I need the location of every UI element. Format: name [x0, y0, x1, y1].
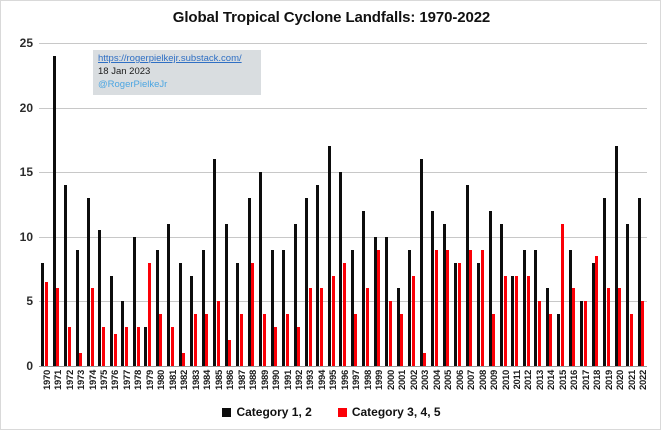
bar-group	[294, 43, 301, 366]
x-tick-label: 2003	[420, 370, 431, 390]
x-tick-label: 2004	[432, 370, 443, 390]
bar-category-3-4-5	[240, 314, 243, 366]
bar-group	[443, 43, 450, 366]
x-tick-label: 1971	[53, 370, 64, 390]
y-tick-label: 0	[26, 359, 33, 373]
bar-group	[638, 43, 645, 366]
bar-category-3-4-5	[228, 340, 231, 366]
bar-category-1-2	[110, 276, 113, 366]
legend-swatch-icon	[338, 408, 347, 417]
bar-group	[339, 43, 346, 366]
bar-category-3-4-5	[435, 250, 438, 366]
bar-category-1-2	[53, 56, 56, 366]
bar-group	[374, 43, 381, 366]
bar-category-1-2	[190, 276, 193, 366]
x-tick-label: 1980	[156, 370, 167, 390]
bar-group	[362, 43, 369, 366]
x-tick-label: 1991	[283, 370, 294, 390]
x-tick-label: 1997	[351, 370, 362, 390]
bar-category-3-4-5	[79, 353, 82, 366]
bar-category-3-4-5	[45, 282, 48, 366]
bar-group	[511, 43, 518, 366]
legend-label: Category 3, 4, 5	[352, 405, 441, 419]
bar-category-3-4-5	[217, 301, 220, 366]
bar-category-3-4-5	[377, 250, 380, 366]
bar-category-1-2	[248, 198, 251, 366]
bar-category-3-4-5	[297, 327, 300, 366]
x-tick-label: 2010	[501, 370, 512, 390]
legend-label: Category 1, 2	[236, 405, 311, 419]
bar-category-3-4-5	[91, 288, 94, 366]
bar-category-1-2	[76, 250, 79, 366]
x-tick-label: 2007	[466, 370, 477, 390]
bar-category-1-2	[569, 250, 572, 366]
x-tick-label: 2000	[386, 370, 397, 390]
bar-group	[76, 43, 83, 366]
chart-legend: Category 1, 2Category 3, 4, 5	[1, 405, 661, 419]
x-tick-label: 1975	[99, 370, 110, 390]
x-tick-label: 2012	[523, 370, 534, 390]
x-tick-label: 1977	[122, 370, 133, 390]
x-tick-label: 1990	[271, 370, 282, 390]
x-tick-label: 1986	[225, 370, 236, 390]
bar-category-1-2	[156, 250, 159, 366]
bar-category-1-2	[351, 250, 354, 366]
bar-category-3-4-5	[56, 288, 59, 366]
x-tick-label: 1974	[88, 370, 99, 390]
bar-category-1-2	[259, 172, 262, 366]
bar-category-3-4-5	[286, 314, 289, 366]
bar-category-1-2	[316, 185, 319, 366]
x-tick-label: 1984	[202, 370, 213, 390]
bar-category-1-2	[477, 263, 480, 366]
bar-category-3-4-5	[263, 314, 266, 366]
bar-group	[64, 43, 71, 366]
bar-category-1-2	[271, 250, 274, 366]
bar-category-1-2	[420, 159, 423, 366]
bar-category-1-2	[500, 224, 503, 366]
bar-category-1-2	[431, 211, 434, 366]
annotation-box: https://rogerpielkejr.substack.com/ 18 J…	[93, 50, 261, 95]
bar-category-1-2	[64, 185, 67, 366]
bar-category-1-2	[41, 263, 44, 366]
x-tick-label: 2008	[478, 370, 489, 390]
bar-category-3-4-5	[194, 314, 197, 366]
y-tick-label: 5	[26, 294, 33, 308]
bar-category-3-4-5	[584, 301, 587, 366]
bar-group	[282, 43, 289, 366]
x-tick-label: 1979	[145, 370, 156, 390]
bar-category-1-2	[98, 230, 101, 366]
bar-category-3-4-5	[137, 327, 140, 366]
bar-category-1-2	[638, 198, 641, 366]
bar-category-3-4-5	[595, 256, 598, 366]
chart-container: Global Tropical Cyclone Landfalls: 1970-…	[0, 0, 661, 430]
x-tick-label: 2006	[455, 370, 466, 390]
x-tick-label: 2016	[569, 370, 580, 390]
bar-group	[351, 43, 358, 366]
bar-group	[603, 43, 610, 366]
bar-group	[397, 43, 404, 366]
bar-category-3-4-5	[458, 263, 461, 366]
x-tick-label: 1985	[214, 370, 225, 390]
bar-category-1-2	[443, 224, 446, 366]
bar-group	[592, 43, 599, 366]
bar-category-3-4-5	[274, 327, 277, 366]
bar-group	[489, 43, 496, 366]
x-tick-label: 1982	[179, 370, 190, 390]
bar-category-1-2	[202, 250, 205, 366]
x-tick-label: 1973	[76, 370, 87, 390]
bar-category-3-4-5	[159, 314, 162, 366]
bar-category-3-4-5	[527, 276, 530, 366]
bar-category-1-2	[385, 237, 388, 366]
bar-category-3-4-5	[607, 288, 610, 366]
x-tick-label: 2022	[638, 370, 649, 390]
bar-category-3-4-5	[423, 353, 426, 366]
bar-category-3-4-5	[125, 327, 128, 366]
bar-category-3-4-5	[320, 288, 323, 366]
bar-group	[500, 43, 507, 366]
bar-category-3-4-5	[400, 314, 403, 366]
x-tick-label: 1983	[191, 370, 202, 390]
bar-category-1-2	[557, 314, 560, 366]
bar-category-3-4-5	[618, 288, 621, 366]
y-tick-label: 25	[20, 36, 33, 50]
chart-title: Global Tropical Cyclone Landfalls: 1970-…	[1, 9, 661, 26]
bar-category-1-2	[179, 263, 182, 366]
bar-category-3-4-5	[114, 334, 117, 366]
bar-group	[328, 43, 335, 366]
annotation-date: 18 Jan 2023	[98, 66, 257, 79]
x-tick-label: 2009	[489, 370, 500, 390]
x-tick-label: 1995	[328, 370, 339, 390]
x-tick-label: 1994	[317, 370, 328, 390]
bar-category-3-4-5	[538, 301, 541, 366]
x-tick-label: 1972	[65, 370, 76, 390]
bar-group	[580, 43, 587, 366]
x-tick-label: 2021	[627, 370, 638, 390]
bar-category-3-4-5	[630, 314, 633, 366]
bar-group	[316, 43, 323, 366]
x-tick-label: 1978	[133, 370, 144, 390]
y-tick-label: 10	[20, 230, 33, 244]
bar-category-1-2	[523, 250, 526, 366]
bar-category-3-4-5	[366, 288, 369, 366]
bar-category-1-2	[603, 198, 606, 366]
bar-category-1-2	[592, 263, 595, 366]
bar-group	[534, 43, 541, 366]
bar-category-1-2	[213, 159, 216, 366]
bar-category-1-2	[133, 237, 136, 366]
bar-category-1-2	[580, 301, 583, 366]
bar-group	[420, 43, 427, 366]
bar-category-1-2	[339, 172, 342, 366]
bar-group	[569, 43, 576, 366]
bar-category-1-2	[408, 250, 411, 366]
bar-category-3-4-5	[68, 327, 71, 366]
bar-group	[557, 43, 564, 366]
bar-category-1-2	[454, 263, 457, 366]
bar-group	[523, 43, 530, 366]
bar-category-3-4-5	[572, 288, 575, 366]
bar-category-3-4-5	[354, 314, 357, 366]
bar-category-1-2	[511, 276, 514, 366]
x-tick-label: 1988	[248, 370, 259, 390]
x-tick-label: 2017	[581, 370, 592, 390]
bar-category-3-4-5	[343, 263, 346, 366]
bar-category-1-2	[144, 327, 147, 366]
bar-category-1-2	[225, 224, 228, 366]
x-tick-label: 2005	[443, 370, 454, 390]
x-tick-label: 2020	[615, 370, 626, 390]
bar-group	[477, 43, 484, 366]
bar-category-1-2	[305, 198, 308, 366]
x-tick-label: 1970	[42, 370, 53, 390]
bar-category-3-4-5	[561, 224, 564, 366]
x-tick-label: 2018	[592, 370, 603, 390]
x-tick-label: 2011	[512, 370, 523, 389]
x-tick-label: 1981	[168, 370, 179, 390]
bar-category-3-4-5	[412, 276, 415, 366]
bar-category-3-4-5	[504, 276, 507, 366]
x-tick-label: 1976	[110, 370, 121, 390]
legend-item[interactable]: Category 3, 4, 5	[338, 405, 441, 419]
bar-category-1-2	[236, 263, 239, 366]
legend-item[interactable]: Category 1, 2	[222, 405, 311, 419]
bar-category-3-4-5	[182, 353, 185, 366]
bar-category-3-4-5	[171, 327, 174, 366]
bar-category-1-2	[546, 288, 549, 366]
bar-group	[626, 43, 633, 366]
bar-group	[546, 43, 553, 366]
bar-category-1-2	[615, 146, 618, 366]
bar-group	[41, 43, 48, 366]
bar-category-1-2	[167, 224, 170, 366]
bar-category-3-4-5	[251, 263, 254, 366]
bar-group	[431, 43, 438, 366]
bar-category-1-2	[466, 185, 469, 366]
bar-category-3-4-5	[641, 301, 644, 366]
x-tick-label: 1987	[237, 370, 248, 390]
bar-category-1-2	[397, 288, 400, 366]
bar-category-1-2	[121, 301, 124, 366]
bar-category-3-4-5	[549, 314, 552, 366]
bar-category-3-4-5	[309, 288, 312, 366]
bar-group	[385, 43, 392, 366]
bar-category-1-2	[374, 237, 377, 366]
bar-category-3-4-5	[389, 301, 392, 366]
x-tick-label: 2002	[409, 370, 420, 390]
bar-category-1-2	[362, 211, 365, 366]
y-tick-label: 20	[20, 101, 33, 115]
legend-swatch-icon	[222, 408, 231, 417]
annotation-author-handle: @RogerPielkeJr	[98, 79, 257, 92]
bar-category-3-4-5	[469, 250, 472, 366]
bar-group	[53, 43, 60, 366]
x-axis-line	[39, 366, 647, 367]
bar-category-1-2	[626, 224, 629, 366]
bar-category-1-2	[328, 146, 331, 366]
y-tick-label: 15	[20, 165, 33, 179]
bar-category-1-2	[294, 224, 297, 366]
bar-category-3-4-5	[102, 327, 105, 366]
bar-category-3-4-5	[205, 314, 208, 366]
bar-group	[454, 43, 461, 366]
x-tick-label: 2019	[604, 370, 615, 390]
bar-category-3-4-5	[332, 276, 335, 366]
bar-group	[615, 43, 622, 366]
x-tick-label: 1999	[374, 370, 385, 390]
bar-category-3-4-5	[481, 250, 484, 366]
x-tick-label: 1993	[305, 370, 316, 390]
bar-category-1-2	[534, 250, 537, 366]
bar-category-3-4-5	[148, 263, 151, 366]
bar-group	[408, 43, 415, 366]
bar-category-3-4-5	[492, 314, 495, 366]
x-tick-label: 2013	[535, 370, 546, 390]
bar-category-1-2	[87, 198, 90, 366]
bar-category-3-4-5	[446, 250, 449, 366]
x-tick-label: 2001	[397, 370, 408, 390]
bar-group	[466, 43, 473, 366]
x-tick-label: 1989	[260, 370, 271, 390]
bar-category-1-2	[282, 250, 285, 366]
x-tick-label: 2014	[546, 370, 557, 390]
bar-category-1-2	[489, 211, 492, 366]
x-tick-label: 1998	[363, 370, 374, 390]
bar-group	[271, 43, 278, 366]
bar-group	[305, 43, 312, 366]
x-tick-label: 2015	[558, 370, 569, 390]
bar-category-3-4-5	[515, 276, 518, 366]
x-tick-label: 1992	[294, 370, 305, 390]
source-link[interactable]: https://rogerpielkejr.substack.com/	[98, 53, 257, 66]
x-tick-label: 1996	[340, 370, 351, 390]
